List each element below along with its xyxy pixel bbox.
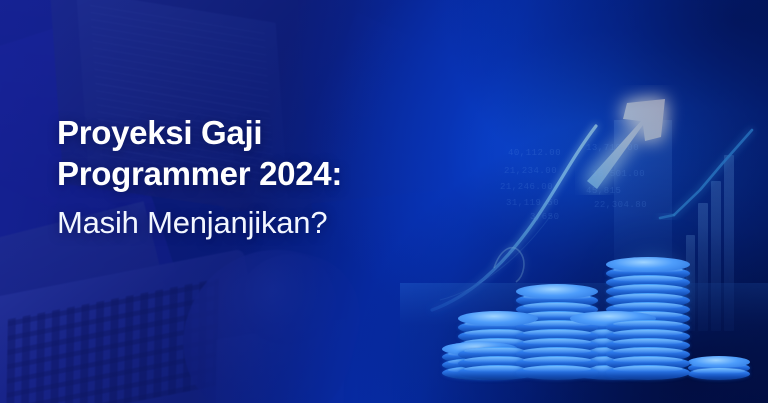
coin-stack-top [458, 311, 538, 326]
coin-disc [688, 368, 750, 380]
stack-3 [516, 284, 598, 380]
stack-6 [688, 356, 750, 380]
coin-disc [606, 365, 690, 380]
salary-projection-banner: 40,112.0013,719.0021,234.0016,501.0021,2… [0, 0, 768, 403]
coin-stack-top [516, 284, 598, 299]
headline-subtitle: Masih Menjanjikan? [57, 203, 342, 243]
coin-stack-top [606, 257, 690, 272]
headline-line-2: Programmer 2024: [57, 153, 342, 194]
coin-stack-top [688, 356, 750, 368]
headline-block: Proyeksi Gaji Programmer 2024: Masih Men… [57, 112, 342, 243]
coin-disc [516, 365, 598, 380]
headline-line-1: Proyeksi Gaji [57, 112, 342, 153]
